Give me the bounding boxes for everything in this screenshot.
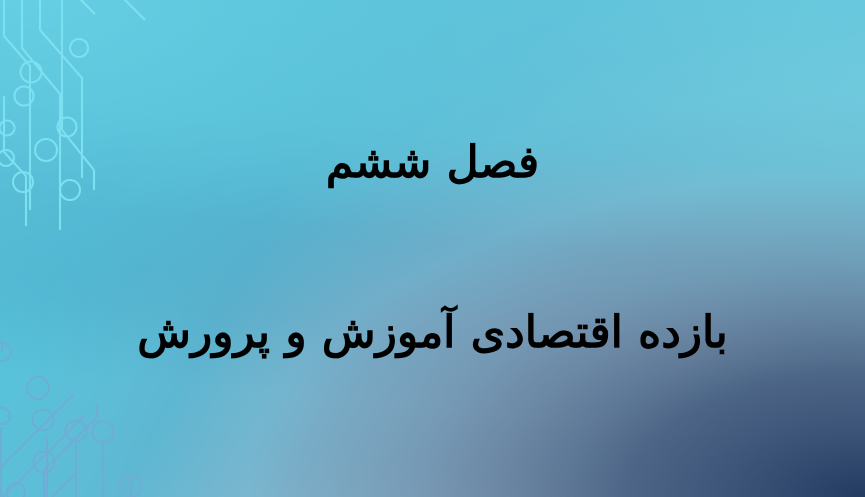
slide-title-row: فصل ششم (0, 136, 865, 190)
presentation-slide: فصل ششم بازده اقتصادی آموزش و پرورش (0, 0, 865, 497)
slide-title: فصل ششم (326, 136, 539, 190)
slide-subtitle-row: بازده اقتصادی آموزش و پرورش (0, 306, 865, 360)
slide-text-layer: فصل ششم بازده اقتصادی آموزش و پرورش (0, 0, 865, 497)
slide-subtitle: بازده اقتصادی آموزش و پرورش (137, 306, 727, 360)
